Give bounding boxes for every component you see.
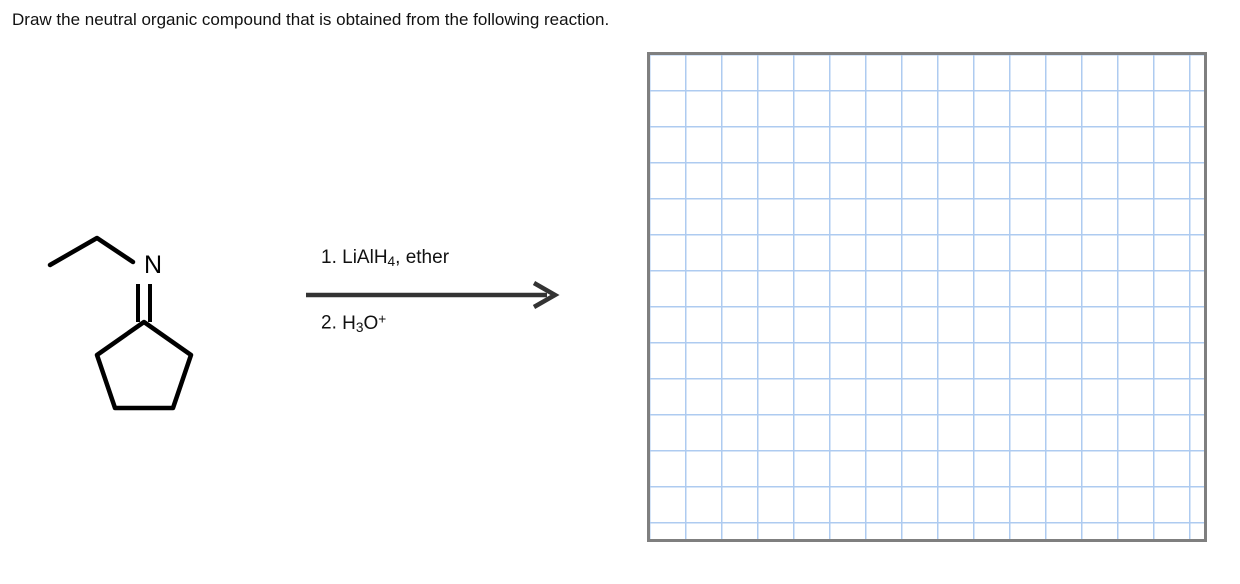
reagent-step-two-formula-prefix: H: [342, 313, 356, 334]
reactant-structure-svg: N: [20, 180, 270, 440]
reagent-step-one-formula-suffix: , ether: [395, 247, 449, 268]
cyclopentane-ring: [97, 322, 191, 408]
reagent-step-one-number: 1.: [321, 247, 337, 268]
reagent-step-one-formula-subscript: 4: [388, 254, 396, 269]
reagent-step-two-formula: H3O+: [342, 313, 386, 334]
reagent-step-two-formula-middle: O: [363, 313, 378, 334]
question-prompt: Draw the neutral organic compound that i…: [12, 9, 609, 31]
ethyl-chain-bond: [50, 238, 133, 265]
reagent-step-one-formula-prefix: LiAlH: [342, 247, 387, 268]
answer-drawing-grid[interactable]: [647, 52, 1207, 542]
reagent-step-one-formula: LiAlH4, ether: [342, 247, 449, 268]
nitrogen-atom-label: N: [144, 251, 162, 279]
reaction-scheme: N 1. LiAlH4, ether 2. H3O+: [0, 150, 620, 450]
reagent-step-two-number: 2.: [321, 313, 337, 334]
reagent-step-two: 2. H3O+: [321, 308, 386, 339]
reagent-step-two-formula-superscript: +: [378, 311, 386, 326]
reagent-step-one: 1. LiAlH4, ether: [321, 247, 449, 273]
reaction-arrow: [303, 280, 573, 310]
reactant-structure: N: [20, 180, 270, 445]
